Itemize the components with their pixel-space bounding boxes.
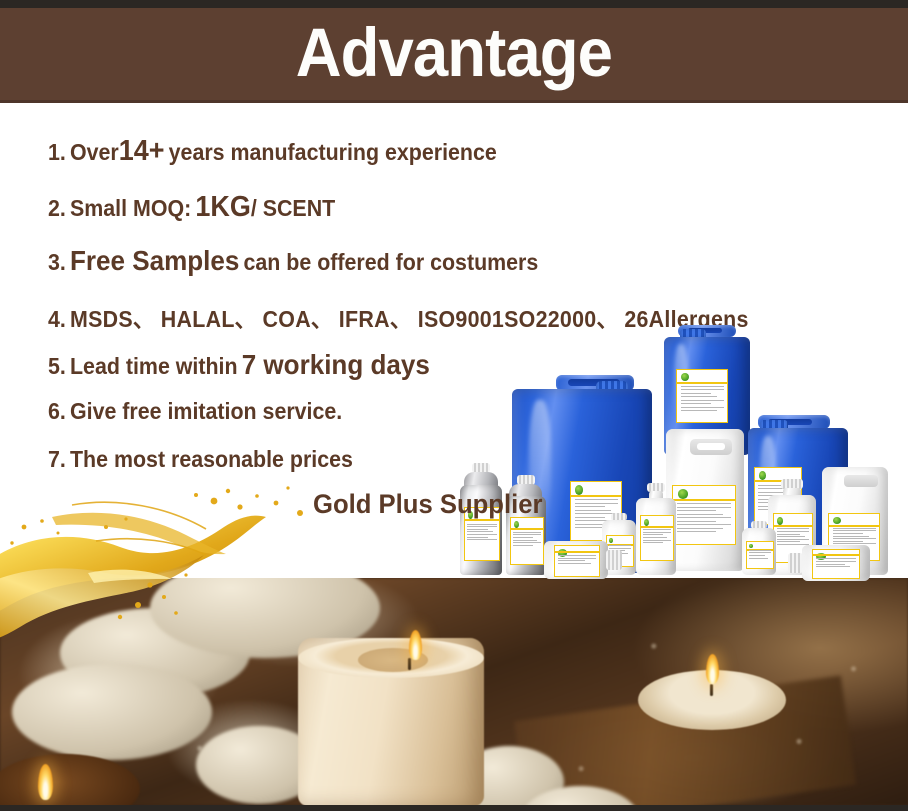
stone [12, 664, 212, 760]
page-title: Advantage [296, 18, 612, 87]
brand-logo-icon [833, 517, 841, 524]
brand-logo-icon [514, 521, 519, 528]
item-text-pre: Give free imitation service. [70, 398, 342, 424]
brand-logo-icon [777, 517, 783, 525]
product-label [676, 369, 728, 423]
white-bottle-lying-left [544, 541, 622, 579]
item-number: 7. [48, 446, 66, 472]
item-text-pre: Over [70, 139, 119, 165]
white-bottle-small-right [742, 521, 776, 575]
list-item: 6. Give free imitation service. [48, 398, 342, 425]
list-item: 5. Lead time within 7 working days [48, 349, 430, 381]
advantage-banner: Advantage 1. Over14+ years manufacturing… [0, 0, 908, 811]
item-text-pre: Lead time within [70, 353, 238, 379]
brand-logo-icon [678, 489, 688, 498]
item-text-post: can be offered for costumers [243, 249, 538, 275]
candle-flame [38, 764, 53, 800]
list-item: 7. The most reasonable prices [48, 446, 353, 473]
gold-plus-supplier-badge: Gold Plus Supplier [313, 489, 542, 520]
item-number: 5. [48, 353, 66, 379]
candle-wick [710, 684, 713, 696]
brand-logo-icon [759, 471, 766, 480]
list-item: 3. Free Samples can be offered for costu… [48, 245, 538, 277]
spa-candle-photo [0, 578, 908, 805]
top-dark-strip [0, 0, 908, 8]
white-bottle-lying-right [788, 545, 870, 581]
item-emphasis: 14+ [119, 135, 165, 167]
item-text-pre: Small MOQ: [70, 195, 191, 221]
item-emphasis: 7 working days [242, 349, 430, 380]
brand-logo-icon [749, 544, 753, 548]
item-text-post: years manufacturing experience [169, 139, 497, 165]
product-label [746, 541, 774, 569]
item-emphasis: 1KG [195, 191, 250, 223]
product-label [510, 517, 544, 565]
pillar-candle [298, 638, 484, 805]
product-lineup-image [452, 325, 908, 580]
list-item: 2. Small MOQ: 1KG/ SCENT [48, 191, 335, 224]
white-bottle-center [636, 483, 676, 575]
item-emphasis: Free Samples [70, 245, 239, 276]
product-label [554, 545, 600, 577]
item-number: 6. [48, 398, 66, 424]
brand-logo-icon [681, 373, 689, 381]
product-label [672, 485, 736, 545]
candle-flame [409, 630, 422, 660]
candle-wick [408, 658, 411, 670]
item-text-pre: The most reasonable prices [70, 446, 353, 472]
list-item: 1. Over14+ years manufacturing experienc… [48, 135, 497, 168]
header-band: Advantage [0, 8, 908, 103]
bottom-dark-strip [0, 805, 908, 811]
item-text-post: / SCENT [251, 195, 335, 221]
brand-logo-icon [644, 519, 649, 526]
item-number: 3. [48, 249, 66, 275]
white-jug-center [666, 429, 744, 571]
item-number: 4. [48, 306, 66, 332]
product-label [812, 549, 860, 579]
candle-flame [706, 654, 719, 684]
item-number: 2. [48, 195, 66, 221]
product-label [640, 515, 674, 561]
brand-logo-icon [575, 485, 583, 494]
item-number: 1. [48, 139, 66, 165]
